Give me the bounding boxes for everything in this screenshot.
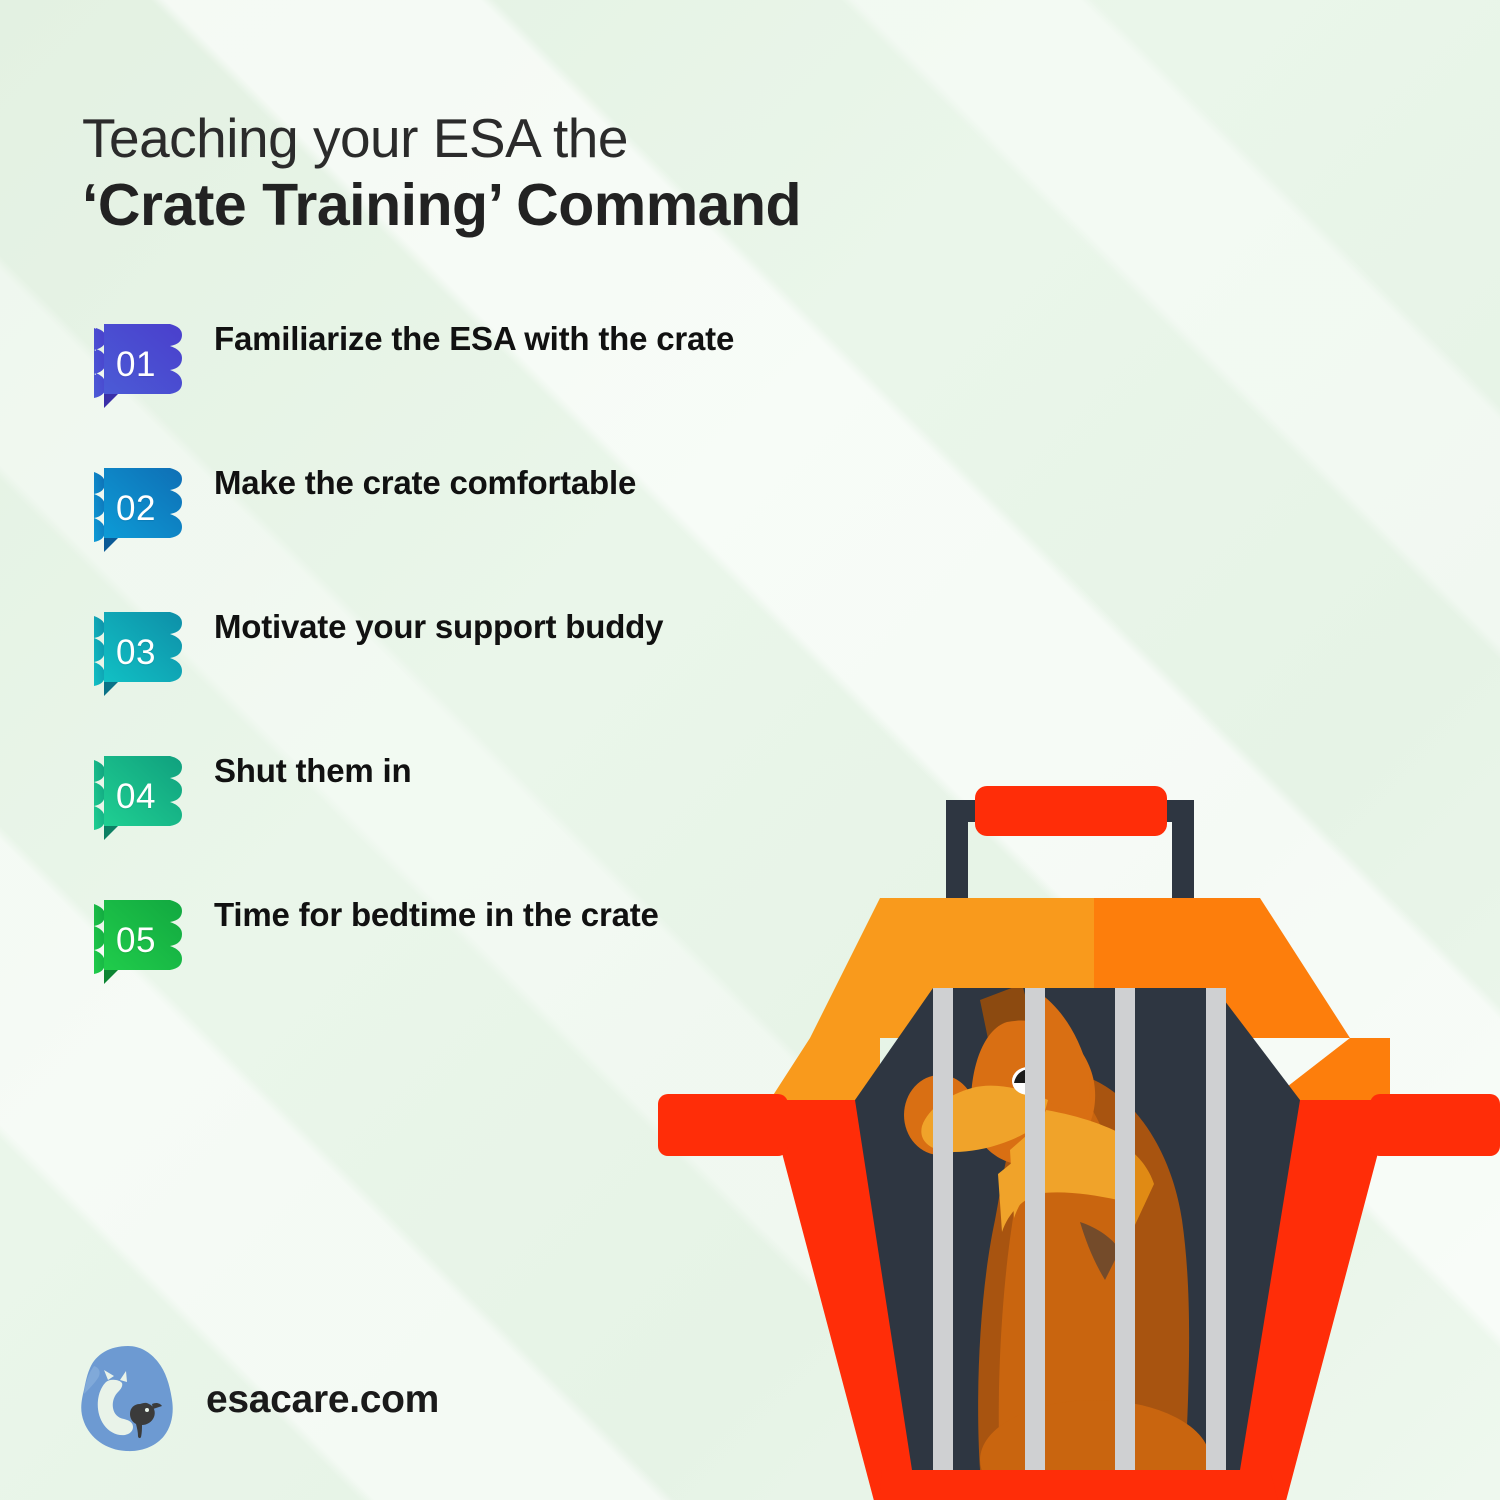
site-url: esacare.com [206, 1378, 439, 1422]
crate-right-rail [1370, 1094, 1500, 1156]
crate-left-rail [658, 1094, 788, 1156]
step-label: Make the crate comfortable [214, 460, 814, 506]
step-number-text: 04 [78, 754, 190, 840]
list-item: 02 Make the crate comfortable [78, 466, 838, 552]
step-number-text: 01 [78, 322, 190, 408]
list-item: 01 Familiarize the ESA with the crate [78, 322, 838, 408]
footer-brand: esacare.com [78, 1344, 439, 1456]
page-title: Teaching your ESA the ‘Crate Training’ C… [82, 108, 801, 238]
step-label: Familiarize the ESA with the crate [214, 316, 814, 362]
list-item: 03 Motivate your support buddy [78, 610, 838, 696]
title-line-one: Teaching your ESA the [82, 108, 801, 168]
infographic-canvas: Teaching your ESA the ‘Crate Training’ C… [0, 0, 1500, 1500]
title-line-two: ‘Crate Training’ Command [82, 172, 801, 238]
esacare-logo-icon [78, 1344, 176, 1456]
step-label: Motivate your support buddy [214, 604, 814, 650]
crate-handle-grip [975, 786, 1167, 836]
step-number-text: 03 [78, 610, 190, 696]
step-number-text: 02 [78, 466, 190, 552]
pet-crate-illustration [650, 770, 1500, 1500]
step-number-text: 05 [78, 898, 190, 984]
